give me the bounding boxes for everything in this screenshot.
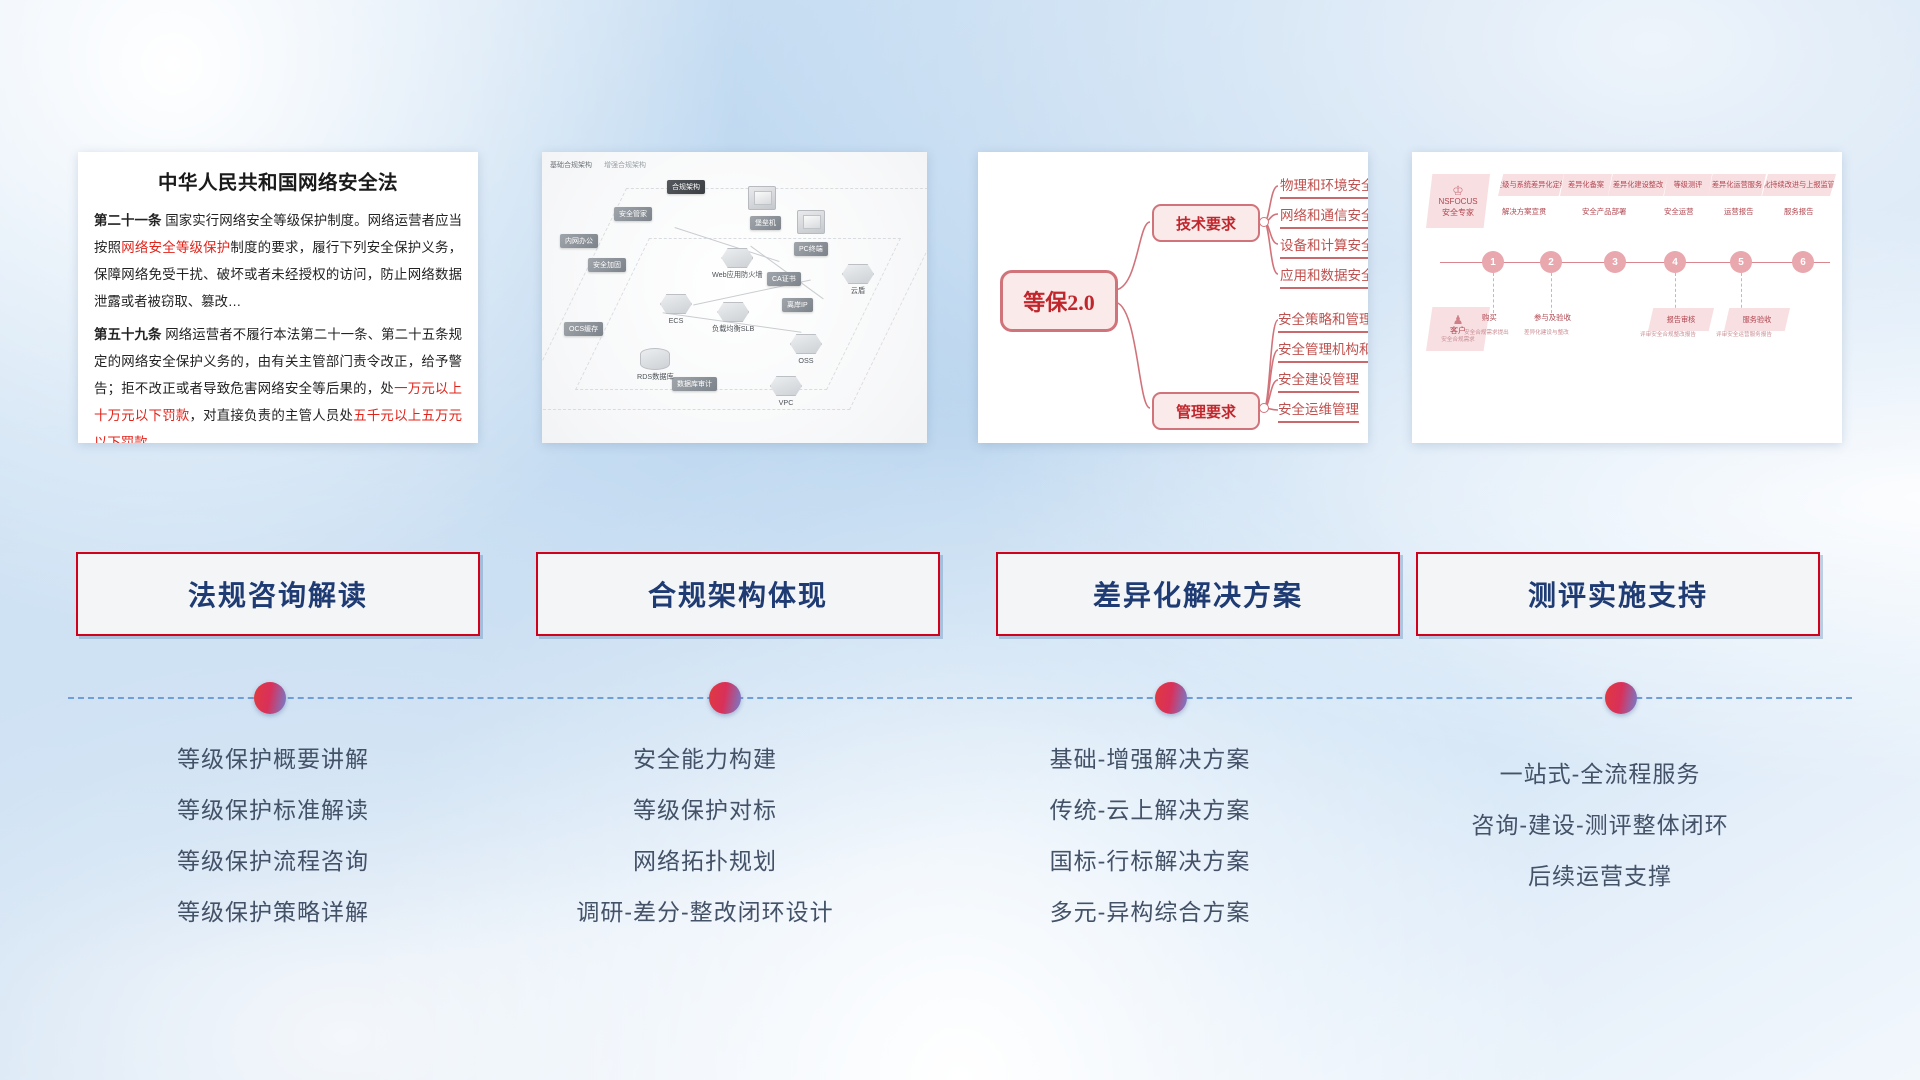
arch-chip-guard: 安全管家: [614, 207, 652, 221]
mindmap-leaf-policy: 安全策略和管理制度: [1278, 308, 1368, 333]
timeline-drop-4: [1741, 273, 1742, 313]
hexagon-icon: [717, 302, 749, 322]
section-list-3: 基础-增强解决方案 传统-云上解决方案 国标-行标解决方案 多元-异构综合方案: [940, 745, 1360, 949]
timeline-node-4[interactable]: [1605, 682, 1637, 714]
mindmap-branch-technical: 技术要求: [1152, 204, 1260, 242]
mindmap-leaf-network: 网络和通信安全: [1280, 204, 1368, 229]
section-header-3[interactable]: 差异化解决方案: [996, 552, 1400, 636]
row-label-4: 运营报告: [1724, 206, 1754, 217]
brand-name: NSFOCUS: [1438, 197, 1477, 208]
list-item: 后续运营支撑: [1390, 862, 1810, 892]
arch-label-cloud-shield: 云盾: [851, 286, 865, 296]
arch-node-vpc: VPC: [770, 376, 802, 407]
poster-stage: 中华人民共和国网络安全法 第二十一条 国家实行网络安全等级保护制度。网络运营者应…: [0, 0, 1920, 1080]
card-mindmap: 等保2.0 技术要求 物理和环境安全 网络和通信安全 设备和计算安全 应用和数据…: [978, 152, 1368, 443]
brand-role: 安全专家: [1442, 208, 1474, 219]
section-header-3-label: 差异化解决方案: [1093, 574, 1303, 614]
bottom-label-1: 购买: [1482, 312, 1497, 323]
section-header-1-label: 法规咨询解读: [188, 574, 368, 614]
arch-chip-pc: PC终端: [794, 242, 828, 256]
arch-node-pc: [797, 210, 825, 234]
card-service-timeline: ♔ NSFOCUS 安全专家 定级与系统差异化定级 差异化备案 差异化建设整改 …: [1412, 152, 1842, 443]
section-list-4: 一站式-全流程服务 咨询-建设-测评整体闭环 后续运营支撑: [1390, 760, 1810, 913]
list-item: 调研-差分-整改闭环设计: [495, 898, 915, 928]
arch-chip-offshore-ip: 离岸IP: [782, 298, 813, 312]
list-item: 多元-异构综合方案: [940, 898, 1360, 928]
timeline-number-6: 6: [1792, 251, 1814, 273]
expert-person-icon: ♔: [1452, 184, 1464, 197]
bottom-sub-2: 差异化建设与整改: [1524, 328, 1569, 336]
section-header-2-label: 合规架构体现: [648, 574, 828, 614]
arch-chip-hardening: 安全加固: [588, 258, 626, 272]
architecture-canvas: 基础合规架构 增强合规架构 合规架构 安全管家 内网办公 安全加固 OCS缓存 …: [542, 152, 927, 443]
arch-tab-enhanced: 增强合规架构: [604, 160, 646, 170]
bottom-sub-1: 安全合规需求提出: [1464, 328, 1509, 336]
arch-chip-bastion: 堡垒机: [750, 216, 781, 230]
section-header-2[interactable]: 合规架构体现: [536, 552, 940, 636]
list-item: 安全能力构建: [495, 745, 915, 775]
arch-label-slb: 负载均衡SLB: [712, 324, 754, 334]
arch-label-oss: OSS: [798, 356, 813, 365]
branch-connector-dot: [1259, 403, 1269, 413]
arch-node-oss: OSS: [790, 334, 822, 365]
timeline-number-5: 5: [1730, 251, 1752, 273]
section-header-1[interactable]: 法规咨询解读: [76, 552, 480, 636]
article-59-label: 第五十九条: [94, 327, 161, 342]
article-59-text-2: ，对直接负责的主管人员处: [189, 408, 353, 423]
branch-connector-dot: [1259, 217, 1269, 227]
mindmap-branch-management: 管理要求: [1152, 392, 1260, 430]
arch-node-waf: Web应用防火墙: [712, 248, 763, 280]
article-21-label: 第二十一条: [94, 213, 161, 228]
database-icon: [640, 348, 670, 370]
section-header-4[interactable]: 测评实施支持: [1416, 552, 1820, 636]
customer-person-icon: ♟: [1453, 314, 1464, 326]
monitor-icon: [797, 210, 825, 234]
arch-node-rds: RDS数据库: [637, 348, 674, 382]
arch-label-ecs: ECS: [669, 316, 684, 325]
bottom-sub-3: 评审安全合规整改报告: [1640, 330, 1696, 338]
hexagon-icon: [660, 294, 692, 314]
card-architecture-diagram: 基础合规架构 增强合规架构 合规架构 安全管家 内网办公 安全加固 OCS缓存 …: [542, 152, 927, 443]
hexagon-icon: [770, 376, 802, 396]
law-title: 中华人民共和国网络安全法: [78, 166, 478, 195]
arch-chip-title: 合规架构: [667, 180, 705, 194]
row-label-5: 服务报告: [1784, 206, 1814, 217]
mindmap-leaf-operation: 安全运维管理: [1278, 398, 1359, 423]
stage-chip-2: 差异化备案: [1560, 174, 1612, 196]
stage-chip-3: 差异化建设整改: [1608, 174, 1668, 196]
bottom-label-3: 报告审核: [1648, 308, 1714, 331]
timeline-brand-block: ♔ NSFOCUS 安全专家: [1426, 174, 1490, 228]
row-label-2: 安全产品部署: [1582, 206, 1626, 217]
list-item: 等级保护标准解读: [63, 796, 483, 826]
bottom-label-2: 参与及验收: [1534, 312, 1571, 323]
arch-node-cloud-shield: 云盾: [842, 264, 874, 296]
arch-chip-ca: CA证书: [767, 272, 801, 286]
section-list-2: 安全能力构建 等级保护对标 网络拓扑规划 调研-差分-整改闭环设计: [495, 745, 915, 949]
server-icon: [748, 186, 776, 210]
hexagon-icon: [721, 248, 753, 268]
hexagon-icon: [790, 334, 822, 354]
bottom-label-4: 服务验收: [1724, 308, 1790, 331]
list-item: 一站式-全流程服务: [1390, 760, 1810, 790]
list-item: 等级保护对标: [495, 796, 915, 826]
section-list-1: 等级保护概要讲解 等级保护标准解读 等级保护流程咨询 等级保护策略详解: [63, 745, 483, 949]
timeline-number-4: 4: [1664, 251, 1686, 273]
arch-label-waf: Web应用防火墙: [712, 270, 763, 280]
timeline-dashed-line: [68, 697, 1852, 699]
timeline-drop-3: [1675, 273, 1676, 313]
mindmap-leaf-application: 应用和数据安全: [1280, 264, 1368, 289]
stage-chip-1: 定级与系统差异化定级: [1498, 174, 1564, 196]
card-law-text: 中华人民共和国网络安全法 第二十一条 国家实行网络安全等级保护制度。网络运营者应…: [78, 152, 478, 443]
mindmap-leaf-construction: 安全建设管理: [1278, 368, 1359, 393]
arch-chip-db-audit: 数据库审计: [672, 377, 717, 391]
list-item: 国标-行标解决方案: [940, 847, 1360, 877]
arch-node-ecs: ECS: [660, 294, 692, 325]
timeline-node-1[interactable]: [254, 682, 286, 714]
arch-node-bastion: [748, 186, 776, 210]
mindmap-leaf-org: 安全管理机构和人员: [1278, 338, 1368, 363]
list-item: 咨询-建设-测评整体闭环: [1390, 811, 1810, 841]
timeline-number-1: 1: [1482, 251, 1504, 273]
arch-chip-intranet: 内网办公: [560, 234, 598, 248]
hexagon-icon: [842, 264, 874, 284]
mindmap-leaf-device: 设备和计算安全: [1280, 234, 1368, 259]
arch-chip-ocs: OCS缓存: [564, 322, 603, 336]
row-label-3: 安全运营: [1664, 206, 1694, 217]
arch-label-vpc: VPC: [779, 398, 794, 407]
arch-label-rds: RDS数据库: [637, 372, 674, 382]
timeline-drop-2: [1551, 273, 1552, 313]
article-21-highlight: 网络安全等级保护: [121, 240, 230, 255]
row-label-1: 解决方案宣贯: [1502, 206, 1546, 217]
arch-node-slb: 负载均衡SLB: [712, 302, 754, 334]
mindmap-core-node: 等保2.0: [1000, 270, 1118, 332]
list-item: 等级保护概要讲解: [63, 745, 483, 775]
timeline-canvas: ♔ NSFOCUS 安全专家 定级与系统差异化定级 差异化备案 差异化建设整改 …: [1412, 152, 1842, 443]
timeline-node-2[interactable]: [709, 682, 741, 714]
list-item: 网络拓扑规划: [495, 847, 915, 877]
timeline-node-3[interactable]: [1155, 682, 1187, 714]
timeline-number-3: 3: [1604, 251, 1626, 273]
stage-chip-5: 差异化运营服务: [1708, 174, 1766, 196]
section-header-4-label: 测评实施支持: [1528, 574, 1708, 614]
stage-chip-4: 等级测评: [1664, 174, 1712, 196]
list-item: 传统-云上解决方案: [940, 796, 1360, 826]
customer-role-sub: 安全合规需求: [1441, 337, 1475, 345]
arch-tab-basic: 基础合规架构: [550, 160, 592, 170]
stage-chip-6: 差异化持续改进与上报监管机构: [1762, 174, 1836, 196]
mindmap-leaf-physical: 物理和环境安全: [1280, 174, 1368, 199]
list-item: 基础-增强解决方案: [940, 745, 1360, 775]
mindmap-canvas: 等保2.0 技术要求 物理和环境安全 网络和通信安全 设备和计算安全 应用和数据…: [978, 152, 1368, 443]
list-item: 等级保护策略详解: [63, 898, 483, 928]
law-body: 第二十一条 国家实行网络安全等级保护制度。网络运营者应当按照网络安全等级保护制度…: [78, 207, 478, 443]
timeline-drop-1: [1493, 273, 1494, 313]
bottom-sub-4: 评审安全运营服务报告: [1716, 330, 1772, 338]
list-item: 等级保护流程咨询: [63, 847, 483, 877]
timeline-number-2: 2: [1540, 251, 1562, 273]
